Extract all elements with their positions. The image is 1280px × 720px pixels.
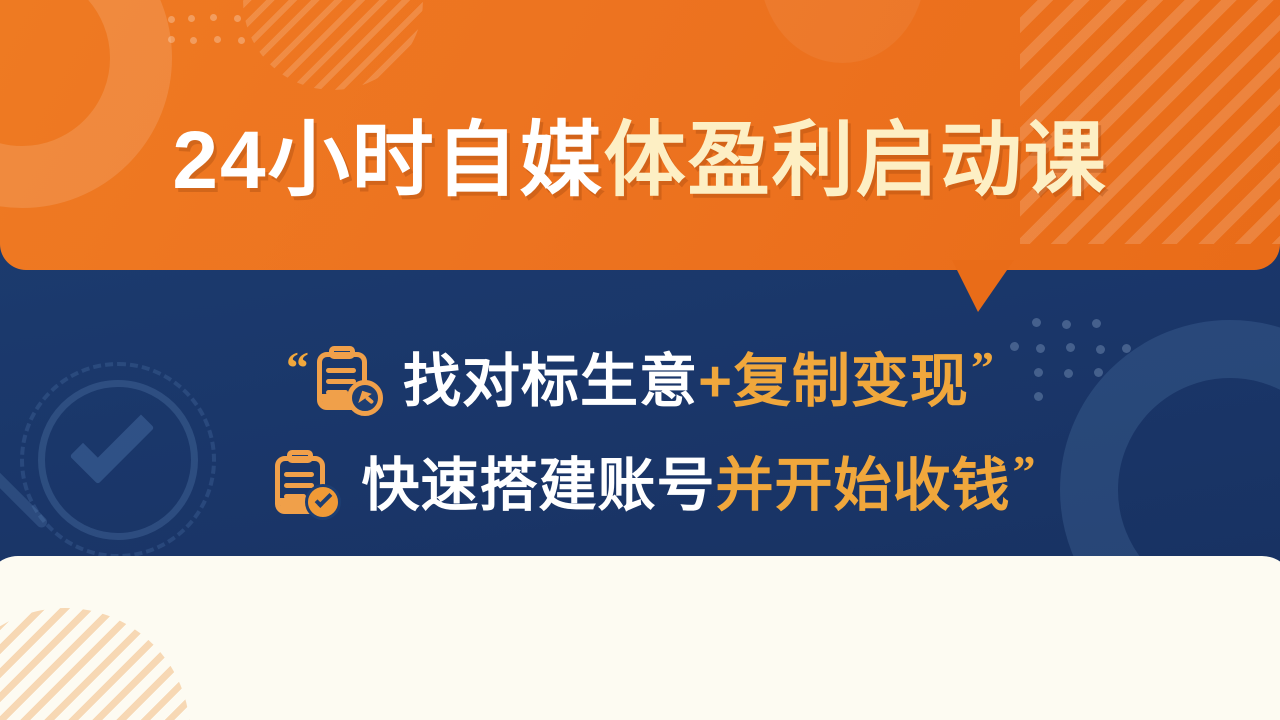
page-title: 24小时自媒体盈利启动课 [0, 120, 1280, 202]
card-striped-circle-decoration [0, 608, 190, 720]
dot [1092, 319, 1101, 328]
close-quote-mark: ” [971, 345, 994, 391]
clipboard-check-icon [271, 450, 343, 522]
header-blob-decoration [760, 0, 925, 63]
promo-poster: 24小时自媒体盈利启动课 “ 找对标生意 +复制变现 ” “ [0, 0, 1280, 720]
clipboard-search-icon [313, 346, 385, 418]
dot [214, 36, 221, 43]
clipboard-line-1 [284, 472, 314, 477]
clipboard-line-1 [326, 368, 356, 373]
clipboard-line-3 [284, 494, 306, 499]
title-part-accent: 体盈利启动课 [604, 115, 1108, 206]
check-badge [305, 484, 341, 520]
clipboard-line-2 [284, 483, 314, 488]
quote-block: “ 找对标生意 +复制变现 ” “ [0, 330, 1280, 538]
header-dot-pattern-decoration [168, 6, 268, 56]
dot [188, 15, 195, 22]
cursor-badge [347, 380, 383, 416]
quote-2-text-accent: 并开始收钱 [716, 457, 1011, 515]
content-card [0, 556, 1280, 720]
quote-line-1: “ 找对标生意 +复制变现 ” [0, 330, 1280, 434]
dot [190, 37, 197, 44]
dot [168, 36, 175, 43]
dot [168, 16, 175, 23]
title-part-primary: 24小时自媒 [172, 115, 603, 206]
speech-bubble-tail [952, 260, 1014, 312]
dot [210, 14, 217, 21]
header-stripes-left-decoration [243, 0, 423, 90]
dot [1032, 318, 1041, 327]
clipboard-line-3 [326, 390, 348, 395]
open-quote-mark: “ [286, 345, 309, 391]
dot [238, 37, 245, 44]
quote-2-text-primary: 快速搭建账号 [361, 457, 715, 515]
check-mark-icon [315, 490, 333, 508]
clipboard-line-2 [326, 379, 356, 384]
close-quote-mark: ” [1013, 449, 1036, 495]
quote-line-2: “ 快速搭建账号 并开始收钱 ” [0, 434, 1280, 538]
quote-1-text-primary: 找对标生意 [403, 353, 698, 411]
quote-1-text-accent: +复制变现 [698, 353, 969, 411]
dot [234, 15, 241, 22]
dot [1062, 320, 1071, 329]
